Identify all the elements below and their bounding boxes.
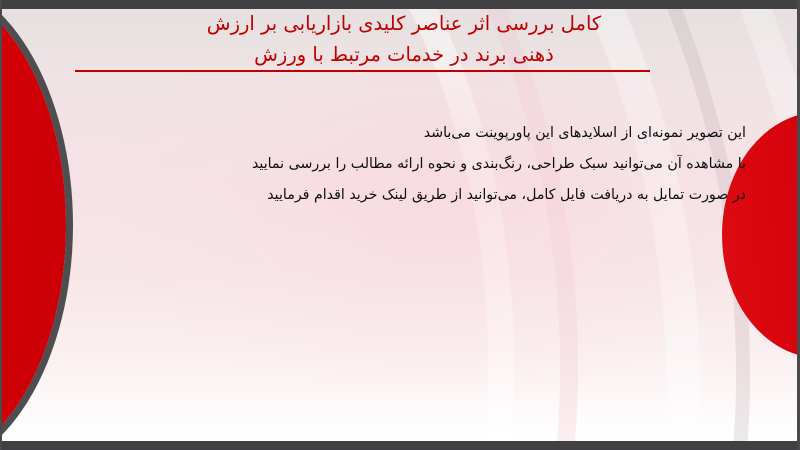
slide-background: [2, 9, 797, 441]
presentation-slide: کامل بررسی اثر عناصر کلیدی بازاریابی بر …: [0, 0, 800, 450]
slide-title-line-1: کامل بررسی اثر عناصر کلیدی بازاریابی بر …: [60, 8, 748, 39]
slide-frame-bottom: [0, 441, 800, 450]
body-line-2: با مشاهده آن می‌توانید سبک طراحی، رنگ‌بن…: [40, 149, 746, 180]
background-arc-pattern: [2, 9, 797, 441]
body-line-3: در صورت تمایل به دریافت فایل کامل، می‌تو…: [40, 180, 746, 211]
title-underline-rule: [75, 70, 650, 72]
body-line-1: این تصویر نمونه‌ای از اسلایدهای این پاور…: [40, 118, 746, 149]
slide-title-line-2: ذهنی برند در خدمات مرتبط با ورزش: [60, 39, 748, 70]
slide-title: کامل بررسی اثر عناصر کلیدی بازاریابی بر …: [60, 8, 748, 70]
background-arc-band: [2, 9, 797, 441]
slide-body-text: این تصویر نمونه‌ای از اسلایدهای این پاور…: [40, 118, 760, 211]
